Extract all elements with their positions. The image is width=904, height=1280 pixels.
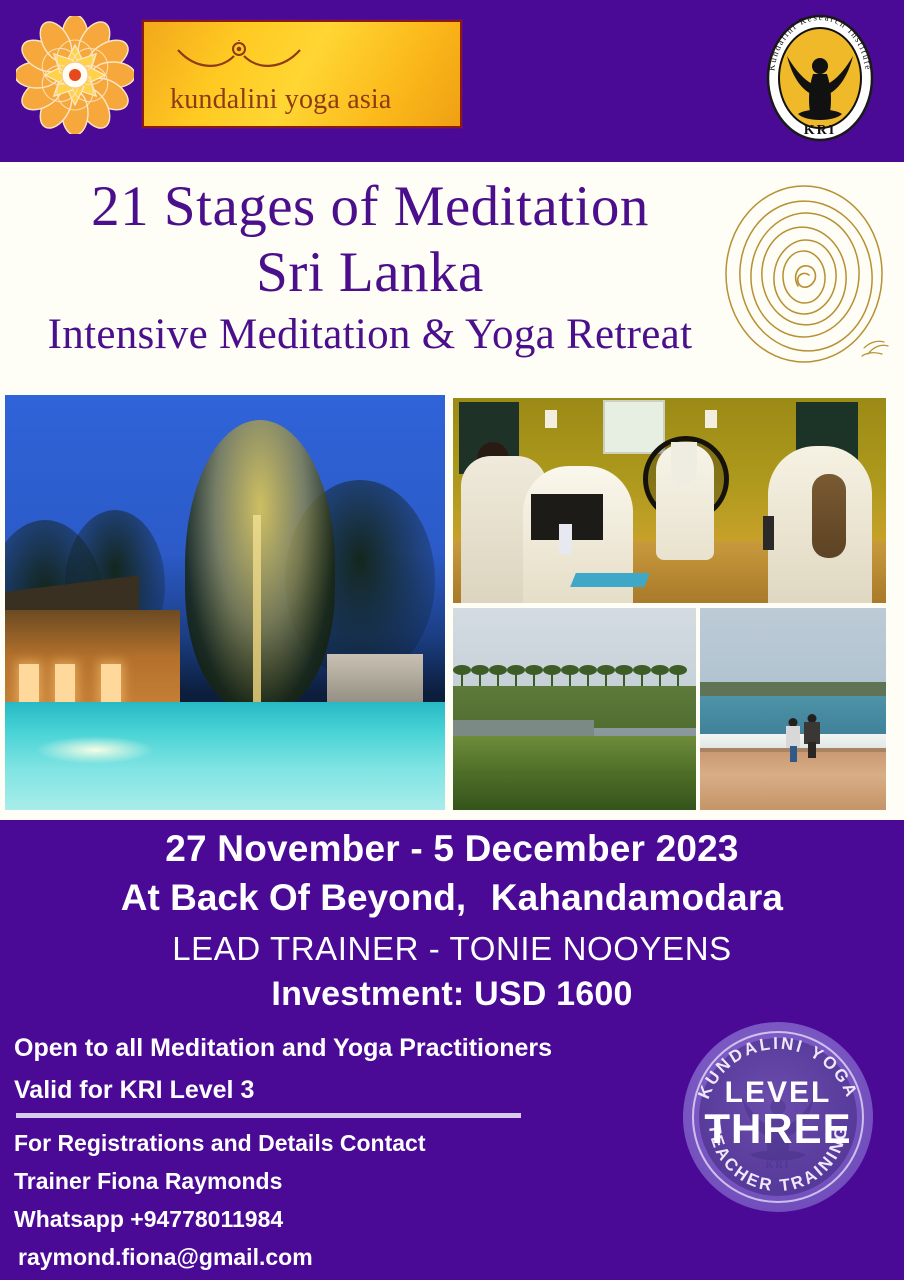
contact-whatsapp[interactable]: Whatsapp +94778011984 [14,1206,283,1233]
venue-prefix: At Back Of Beyond, [121,877,466,918]
photo-beach-walkers [700,608,886,810]
event-details: 27 November - 5 December 2023 At Back Of… [0,820,904,1020]
third-eye-icon [174,40,304,80]
registrations-text: For Registrations and Details Contact [14,1130,426,1157]
event-venue: At Back Of Beyond, Kahandamodara [0,877,904,919]
page-title-line2: Sri Lanka [0,240,740,305]
photo-meditation-class [453,398,886,603]
brand-logo-kundalini-yoga-asia: kundalini yoga asia [142,20,462,128]
investment-amount: Investment: USD 1600 [0,975,904,1014]
badge-three-label: THREE [683,1108,873,1150]
contact-trainer-name: Trainer Fiona Raymonds [14,1168,282,1195]
mandala-flower-icon [16,16,134,134]
open-to-text: Open to all Meditation and Yoga Practiti… [14,1034,552,1063]
brand-logo-label: kundalini yoga asia [170,84,392,116]
venue-place: Kahandamodara [491,877,784,918]
valid-for-text: Valid for KRI Level 3 [14,1076,254,1105]
footer-divider [16,1113,521,1118]
event-dates: 27 November - 5 December 2023 [0,828,904,870]
badge-level-label: LEVEL [683,1078,873,1108]
title-band: 21 Stages of Meditation Sri Lanka Intens… [0,162,904,390]
contact-email[interactable]: raymond.fiona@gmail.com [18,1244,313,1271]
photo-lagoon-palms [453,608,696,810]
golden-spiral-icon [712,176,896,376]
poster-header: kundalini yoga asia Kundalini Research I… [0,0,904,160]
page-title-line1: 21 Stages of Meditation [0,174,740,239]
photo-collage [0,390,904,820]
level-three-badge: KRI KUNDALINI YOGA TEACHER TRAINING LEVE… [683,1022,873,1212]
page-subtitle: Intensive Meditation & Yoga Retreat [0,310,740,359]
poster-root: kundalini yoga asia Kundalini Research I… [0,0,904,1280]
lead-trainer: LEAD TRAINER - TONIE NOOYENS [0,930,904,968]
photo-resort-pool-night [5,395,445,810]
kri-logo: Kundalini Research Institute KRI [760,14,880,142]
svg-text:KRI: KRI [804,123,836,138]
